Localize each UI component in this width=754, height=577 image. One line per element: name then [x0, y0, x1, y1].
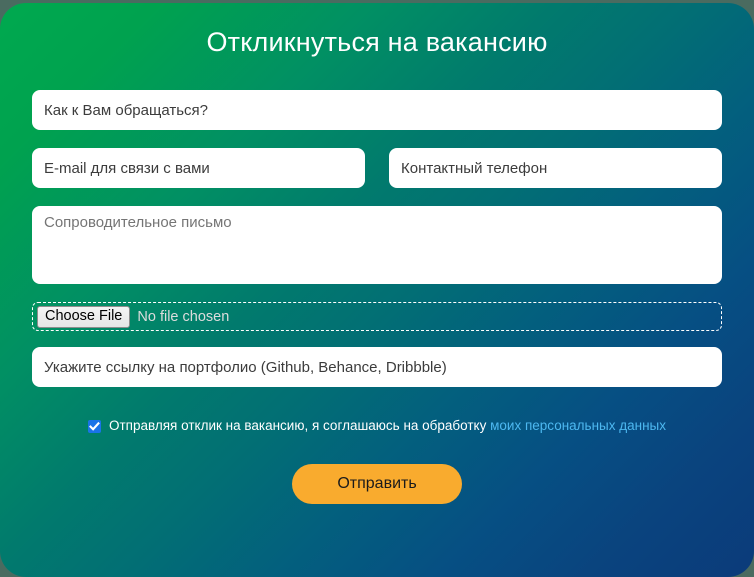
consent-row: Отправляя отклик на вакансию, я соглашаю… — [32, 417, 722, 435]
consent-text: Отправляя отклик на вакансию, я соглашаю… — [109, 418, 486, 433]
checkmark-icon — [89, 421, 100, 432]
vacancy-application-card: Откликнуться на вакансию Choose File No … — [0, 3, 754, 577]
personal-data-link[interactable]: моих персональных данных — [490, 418, 666, 433]
submit-row: Отправить — [32, 464, 722, 504]
submit-button[interactable]: Отправить — [292, 464, 462, 504]
application-form: Choose File No file chosen Отправляя отк… — [32, 90, 722, 504]
consent-label: Отправляя отклик на вакансию, я соглашаю… — [109, 417, 666, 435]
cover-letter-textarea[interactable] — [32, 206, 722, 284]
email-input[interactable] — [32, 148, 365, 188]
portfolio-input[interactable] — [32, 347, 722, 387]
page-title: Откликнуться на вакансию — [32, 3, 722, 59]
contact-row — [32, 148, 722, 188]
choose-file-button[interactable]: Choose File — [37, 306, 130, 328]
portfolio-row — [32, 347, 722, 387]
file-input[interactable]: Choose File No file chosen — [32, 302, 722, 331]
phone-input[interactable] — [389, 148, 722, 188]
name-row — [32, 90, 722, 130]
application-form-page: Откликнуться на вакансию Choose File No … — [0, 0, 754, 577]
cover-letter-row — [32, 206, 722, 284]
name-input[interactable] — [32, 90, 722, 130]
consent-checkbox[interactable] — [88, 420, 101, 433]
file-status-text: No file chosen — [137, 309, 229, 325]
resume-upload-row: Choose File No file chosen — [32, 302, 722, 331]
